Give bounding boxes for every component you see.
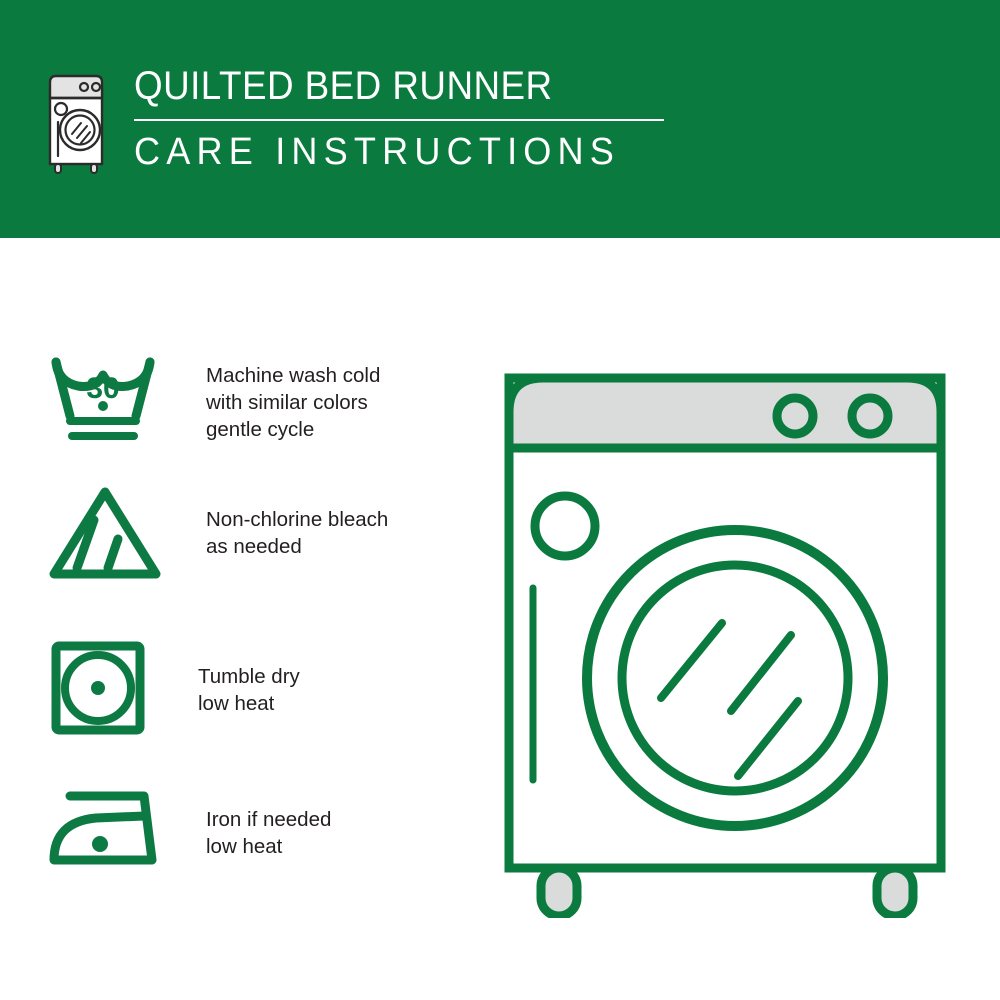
care-row-dry: Tumble dry low heat: [48, 638, 300, 743]
front-load-washing-machine-illustration: [495, 338, 965, 918]
wash-temperature-value: 30: [86, 372, 119, 405]
washing-machine-icon: [44, 68, 108, 180]
machine-leg-left: [541, 868, 577, 916]
care-label-iron: Iron if needed low heat: [206, 806, 331, 860]
care-row-bleach: Non-chlorine bleach as needed: [48, 482, 388, 587]
tumble-dry-low-icon: [48, 638, 148, 743]
care-row-iron: Iron if needed low heat: [48, 788, 331, 873]
iron-low-heat-icon: [48, 788, 168, 873]
page-title: QUILTED BED RUNNER: [134, 66, 622, 106]
care-label-bleach: Non-chlorine bleach as needed: [206, 506, 388, 560]
header-content: QUILTED BED RUNNER CARE INSTRUCTIONS: [44, 62, 664, 180]
non-chlorine-bleach-triangle-icon: [48, 482, 168, 587]
page-subtitle: CARE INSTRUCTIONS: [134, 133, 638, 171]
header-title-block: QUILTED BED RUNNER CARE INSTRUCTIONS: [134, 62, 664, 171]
care-label-dry: Tumble dry low heat: [198, 663, 300, 717]
title-divider: [134, 119, 664, 121]
care-instruction-list: 30 Machine wash cold with similar colors…: [0, 238, 460, 1000]
machine-leg-right: [877, 868, 913, 916]
care-row-wash: 30 Machine wash cold with similar colors…: [48, 348, 380, 453]
care-label-wash: Machine wash cold with similar colors ge…: [206, 362, 380, 443]
header-banner: QUILTED BED RUNNER CARE INSTRUCTIONS: [0, 0, 1000, 238]
wash-tub-30-gentle-icon: 30: [48, 348, 158, 453]
